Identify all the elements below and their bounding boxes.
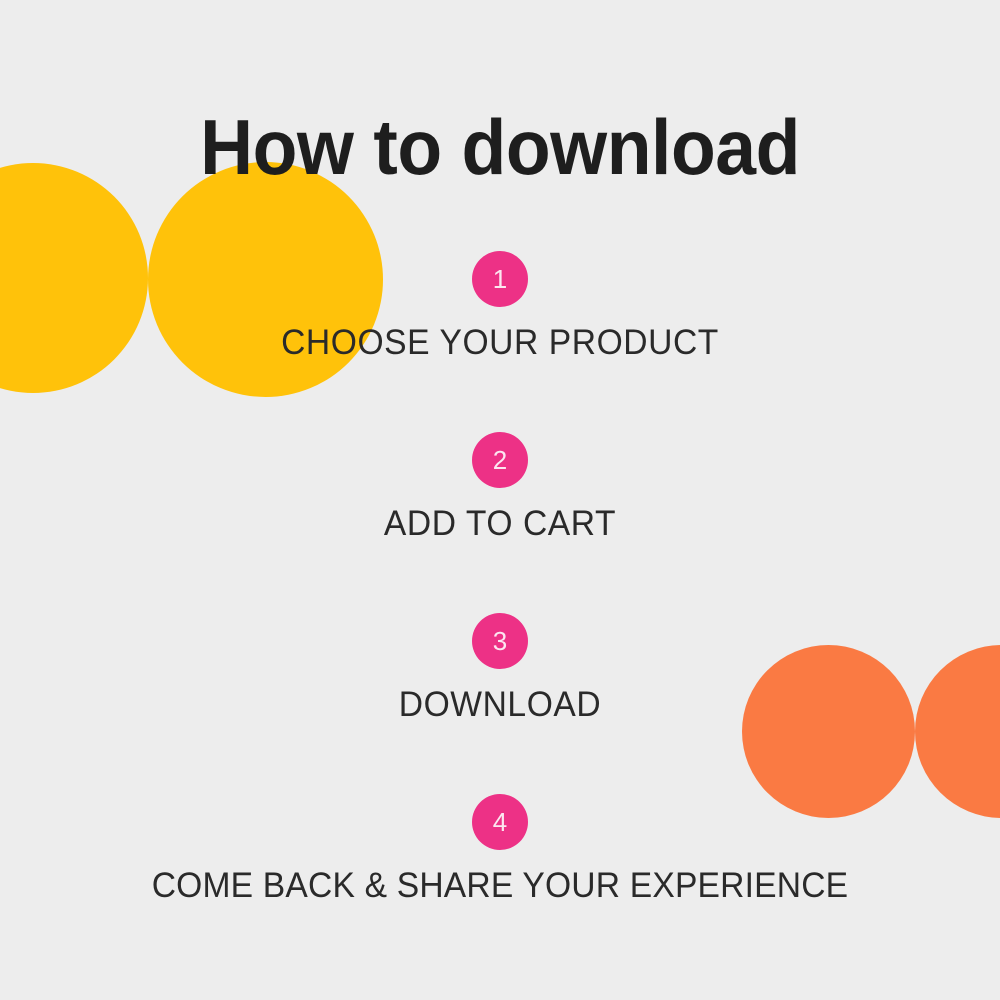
- step-item-3: 3 DOWNLOAD: [0, 613, 1000, 794]
- step-item-4: 4 COME BACK & SHARE YOUR EXPERIENCE: [0, 794, 1000, 975]
- steps-list: 1 CHOOSE YOUR PRODUCT 2 ADD TO CART 3 DO…: [0, 251, 1000, 975]
- step-number-badge-4: 4: [472, 794, 528, 850]
- step-number-badge-3: 3: [472, 613, 528, 669]
- page-title: How to download: [30, 108, 970, 188]
- step-item-1: 1 CHOOSE YOUR PRODUCT: [0, 251, 1000, 432]
- step-label-4: COME BACK & SHARE YOUR EXPERIENCE: [20, 866, 980, 906]
- step-item-2: 2 ADD TO CART: [0, 432, 1000, 613]
- step-number-badge-2: 2: [472, 432, 528, 488]
- step-label-2: ADD TO CART: [20, 504, 980, 544]
- infographic-canvas: How to download 1 CHOOSE YOUR PRODUCT 2 …: [0, 0, 1000, 1000]
- step-label-3: DOWNLOAD: [20, 685, 980, 725]
- step-number-badge-1: 1: [472, 251, 528, 307]
- step-label-1: CHOOSE YOUR PRODUCT: [20, 323, 980, 363]
